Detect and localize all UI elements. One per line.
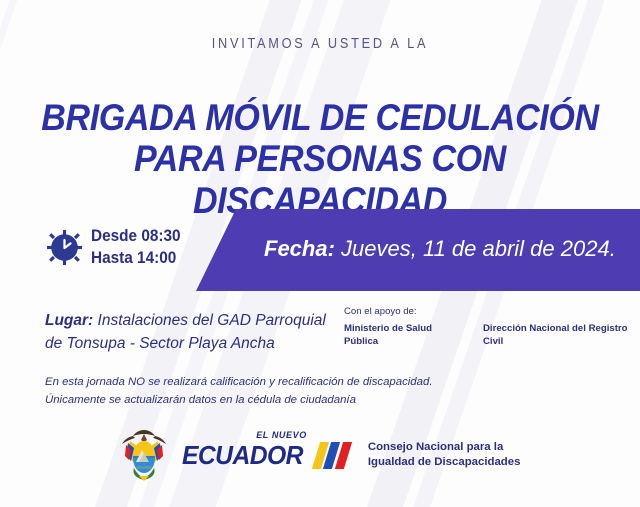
schedule-to: Hasta 14:00	[91, 248, 181, 270]
schedule-from: Desde 08:30	[91, 226, 181, 248]
disclaimer-line-1: En esta jornada NO se realizará califica…	[45, 373, 432, 391]
flag-bars-icon	[316, 442, 348, 469]
place-block: Lugar: Instalaciones del GAD Parroquial …	[45, 309, 345, 356]
disclaimer-block: En esta jornada NO se realizará califica…	[45, 373, 432, 410]
title-line-1: BRIGADA MÓVIL DE CEDULACIÓN	[26, 97, 615, 138]
logo-main-text: ECUADOR	[182, 442, 303, 468]
support-entities: Ministerio de Salud Pública Dirección Na…	[344, 322, 640, 348]
poster-canvas: INVITAMOS A USTED A LA BRIGADA MÓVIL DE …	[0, 0, 640, 507]
logo-wordmark: EL NUEVO ECUADOR	[182, 442, 309, 468]
support-block: Con el apoyo de: Ministerio de Salud Púb…	[344, 306, 640, 348]
place-label: Lugar:	[45, 312, 93, 329]
ecuador-coat-of-arms-icon	[120, 428, 168, 482]
schedule-block: Desde 08:30 Hasta 14:00	[47, 226, 187, 270]
support-title: Con el apoyo de:	[344, 306, 640, 317]
disclaimer-line-2: Únicamente se actualizarán datos en la c…	[45, 391, 432, 409]
support-entity-2: Dirección Nacional del Registro Civil	[483, 322, 640, 348]
footer: EL NUEVO ECUADOR Consejo Nacional para l…	[0, 428, 640, 482]
date-label: Fecha:	[264, 236, 335, 261]
el-nuevo-ecuador-logo: EL NUEVO ECUADOR	[182, 442, 348, 469]
organization-name: Consejo Nacional para la Igualdad de Dis…	[368, 440, 521, 471]
organization-line-2: Igualdad de Discapacidades	[368, 455, 521, 471]
date-value: Jueves, 11 de abril de 2024.	[335, 236, 616, 261]
schedule-text: Desde 08:30 Hasta 14:00	[91, 226, 187, 270]
clock-icon	[47, 230, 82, 265]
title-line-2: PARA PERSONAS CON DISCAPACIDAD	[26, 138, 615, 221]
eyebrow-text: INVITAMOS A USTED A LA	[38, 36, 601, 52]
support-entity-1: Ministerio de Salud Pública	[344, 322, 461, 348]
organization-line-1: Consejo Nacional para la	[368, 440, 521, 456]
date-text: Fecha: Jueves, 11 de abril de 2024.	[264, 236, 616, 262]
logo-top-text: EL NUEVO	[256, 431, 307, 440]
page-title: BRIGADA MÓVIL DE CEDULACIÓN PARA PERSONA…	[0, 97, 640, 221]
